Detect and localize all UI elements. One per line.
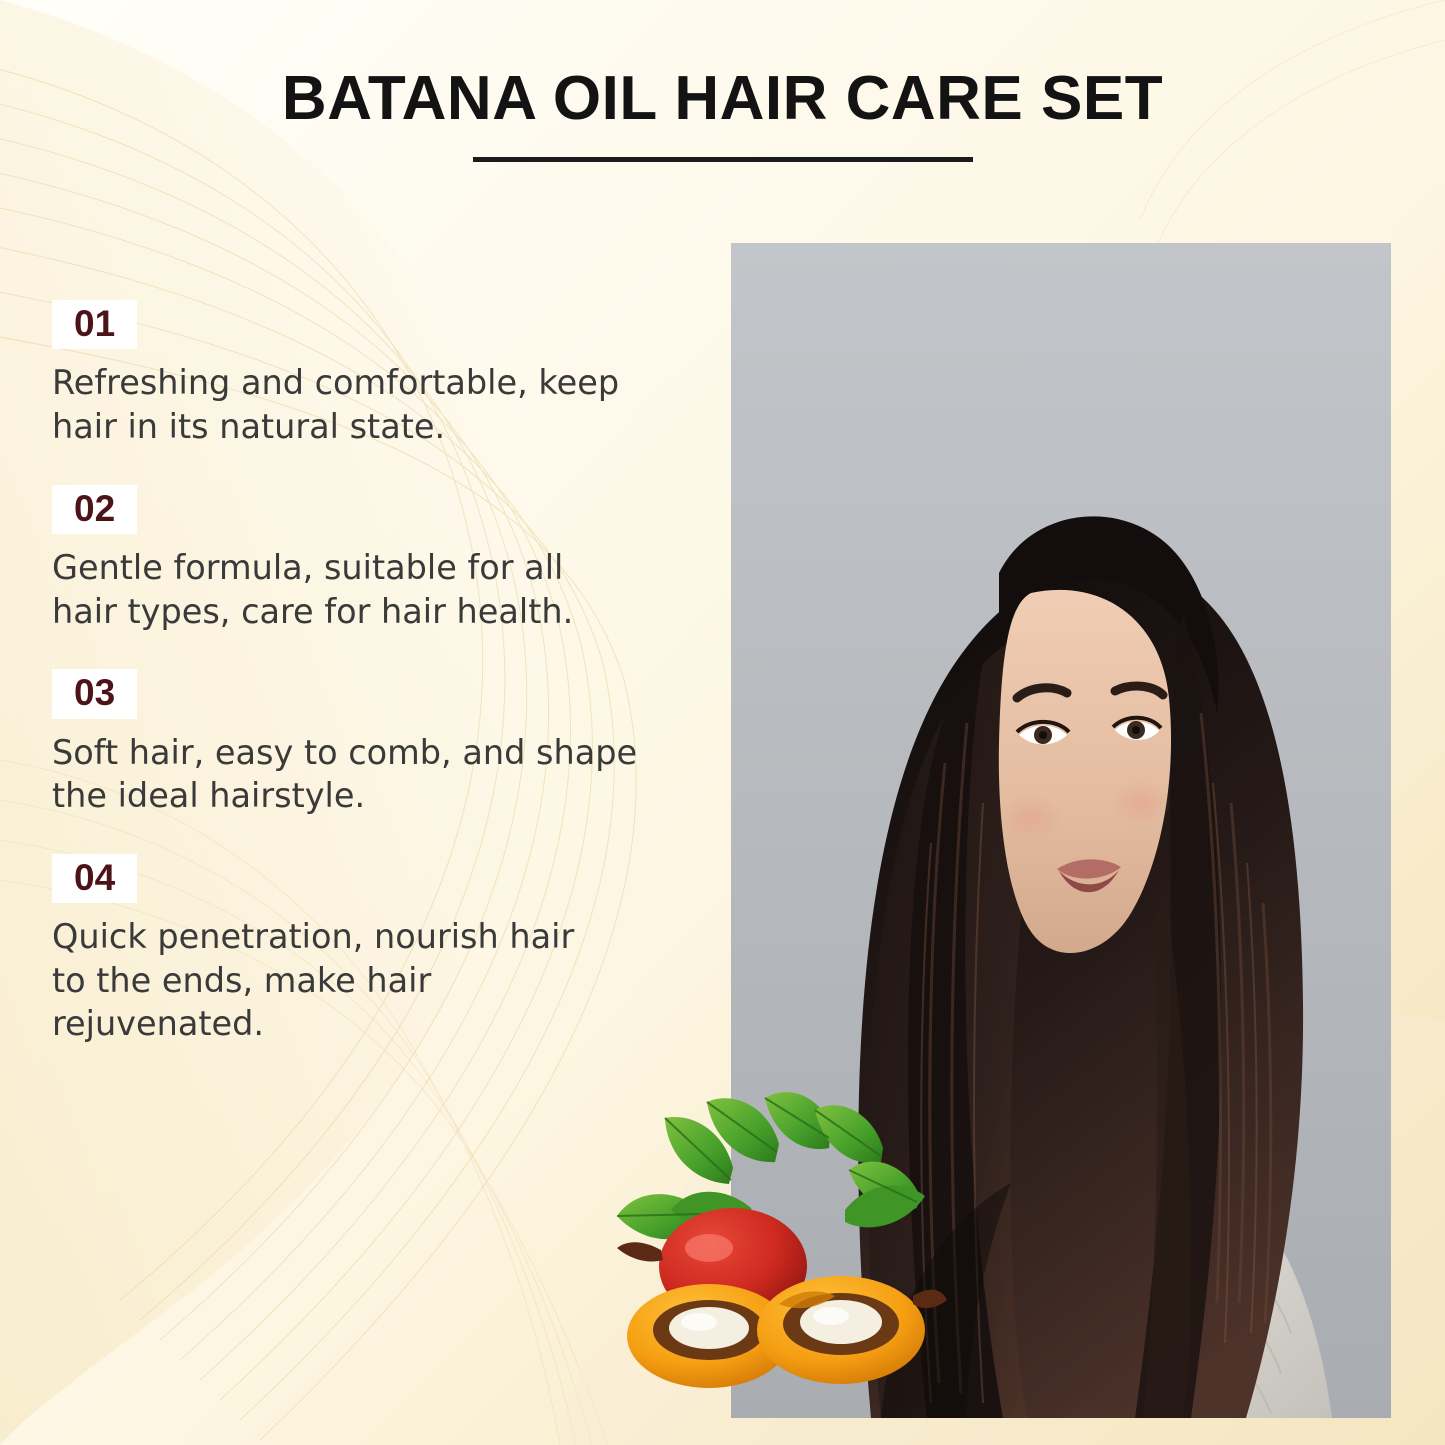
feature-description: Quick penetration, nourish hair to the e… (52, 915, 607, 1046)
feature-description: Gentle formula, suitable for all hair ty… (52, 546, 622, 633)
product-poster: BATANA OIL HAIR CARE SET 01 Refreshing a… (0, 0, 1445, 1445)
batana-fruit-image (583, 1090, 953, 1390)
feature-number-badge: 04 (52, 854, 137, 903)
feature-list: 01 Refreshing and comfortable, keep hair… (52, 300, 672, 1082)
feature-description: Soft hair, easy to comb, and shape the i… (52, 731, 652, 818)
poster-title-block: BATANA OIL HAIR CARE SET (0, 66, 1445, 162)
feature-number-badge: 01 (52, 300, 137, 349)
list-item: 04 Quick penetration, nourish hair to th… (52, 854, 672, 1046)
feature-number-badge: 03 (52, 669, 137, 718)
list-item: 02 Gentle formula, suitable for all hair… (52, 485, 672, 634)
orange-palm-fruit-half-right (757, 1276, 947, 1384)
feature-number-badge: 02 (52, 485, 137, 534)
page-title: BATANA OIL HAIR CARE SET (0, 66, 1445, 131)
title-divider (473, 157, 973, 162)
list-item: 03 Soft hair, easy to comb, and shape th… (52, 669, 672, 818)
list-item: 01 Refreshing and comfortable, keep hair… (52, 300, 672, 449)
feature-description: Refreshing and comfortable, keep hair in… (52, 361, 662, 448)
